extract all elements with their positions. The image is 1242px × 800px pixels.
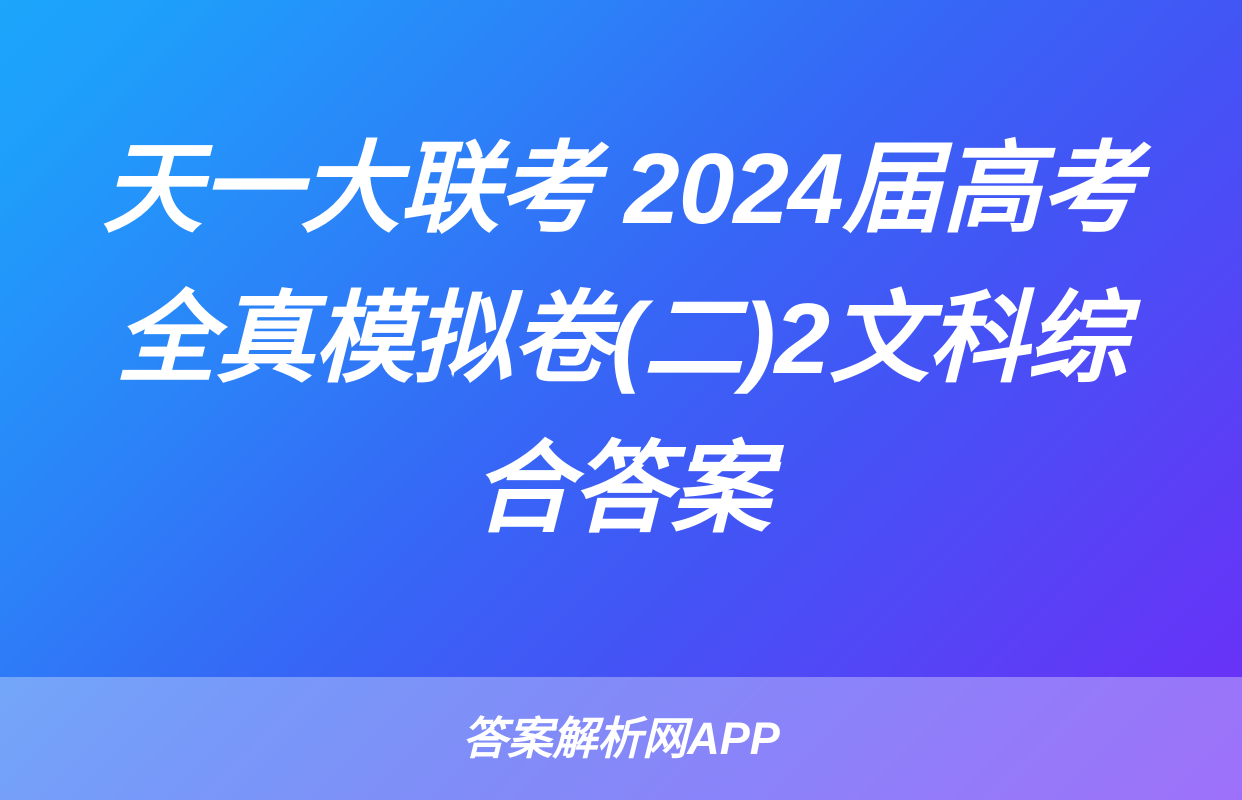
poster-container: 天一大联考 2024届高考 全真模拟卷(二)2文科综 合答案 答案解析网APP [0,0,1242,800]
app-watermark-label: 答案解析网APP [462,714,780,764]
title-line-3: 合答案 [70,414,1172,564]
title-line-2: 全真模拟卷(二)2文科综 [70,264,1172,414]
title-line-1: 天一大联考 2024届高考 [70,114,1172,264]
footer-watermark-band: 答案解析网APP [0,677,1242,800]
title-block: 天一大联考 2024届高考 全真模拟卷(二)2文科综 合答案 [0,0,1242,677]
